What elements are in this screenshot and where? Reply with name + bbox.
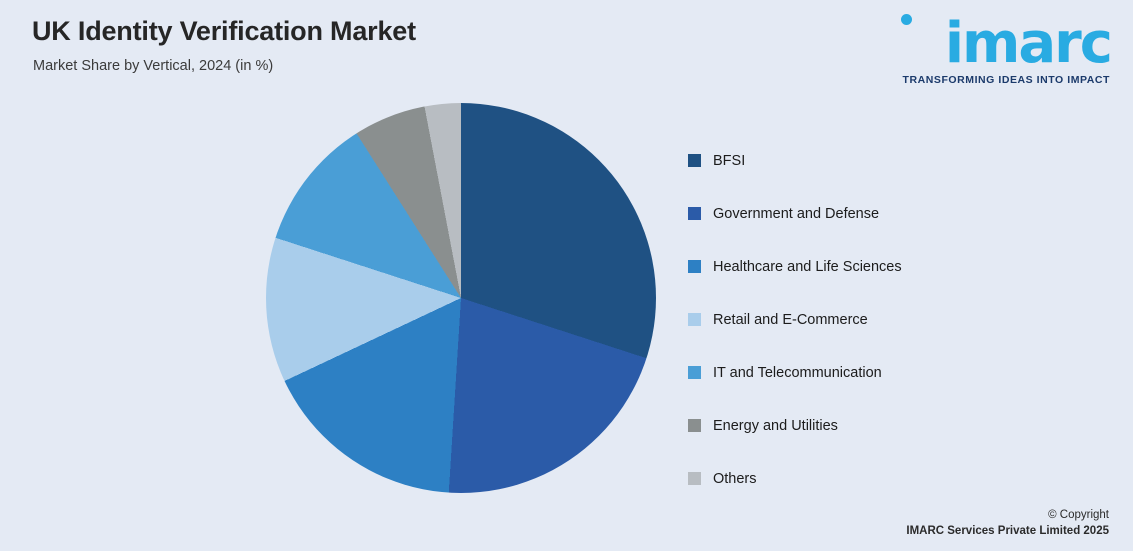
pie-chart — [266, 103, 656, 493]
legend-label: Others — [713, 471, 757, 487]
chart-page: UK Identity Verification Market Market S… — [0, 0, 1133, 551]
legend-item[interactable]: Energy and Utilities — [688, 399, 1068, 452]
legend-swatch-icon — [688, 419, 701, 432]
legend-swatch-icon — [688, 260, 701, 273]
legend-label: IT and Telecommunication — [713, 365, 882, 381]
logo-wordmark: imarc — [945, 16, 1111, 72]
footer: © Copyright IMARC Services Private Limit… — [906, 509, 1109, 537]
legend-swatch-icon — [688, 313, 701, 326]
legend-item[interactable]: Government and Defense — [688, 187, 1068, 240]
legend-swatch-icon — [688, 207, 701, 220]
pie-slices — [266, 103, 656, 493]
company-text: IMARC Services Private Limited 2025 — [906, 525, 1109, 537]
logo-dot-icon — [901, 14, 912, 25]
legend-label: BFSI — [713, 153, 745, 169]
legend-label: Retail and E-Commerce — [713, 312, 868, 328]
legend-item[interactable]: Healthcare and Life Sciences — [688, 240, 1068, 293]
page-title: UK Identity Verification Market — [32, 16, 416, 47]
chart-legend: BFSIGovernment and DefenseHealthcare and… — [688, 134, 1068, 505]
legend-swatch-icon — [688, 154, 701, 167]
legend-item[interactable]: BFSI — [688, 134, 1068, 187]
imarc-logo: imarc TRANSFORMING IDEAS INTO IMPACT — [891, 14, 1111, 86]
legend-swatch-icon — [688, 366, 701, 379]
page-subtitle: Market Share by Vertical, 2024 (in %) — [33, 58, 273, 74]
legend-item[interactable]: Others — [688, 452, 1068, 505]
copyright-text: © Copyright — [906, 509, 1109, 521]
legend-item[interactable]: Retail and E-Commerce — [688, 293, 1068, 346]
legend-label: Government and Defense — [713, 206, 879, 222]
legend-swatch-icon — [688, 472, 701, 485]
legend-label: Energy and Utilities — [713, 418, 838, 434]
legend-item[interactable]: IT and Telecommunication — [688, 346, 1068, 399]
legend-label: Healthcare and Life Sciences — [713, 259, 902, 275]
logo-tagline: TRANSFORMING IDEAS INTO IMPACT — [903, 74, 1110, 86]
